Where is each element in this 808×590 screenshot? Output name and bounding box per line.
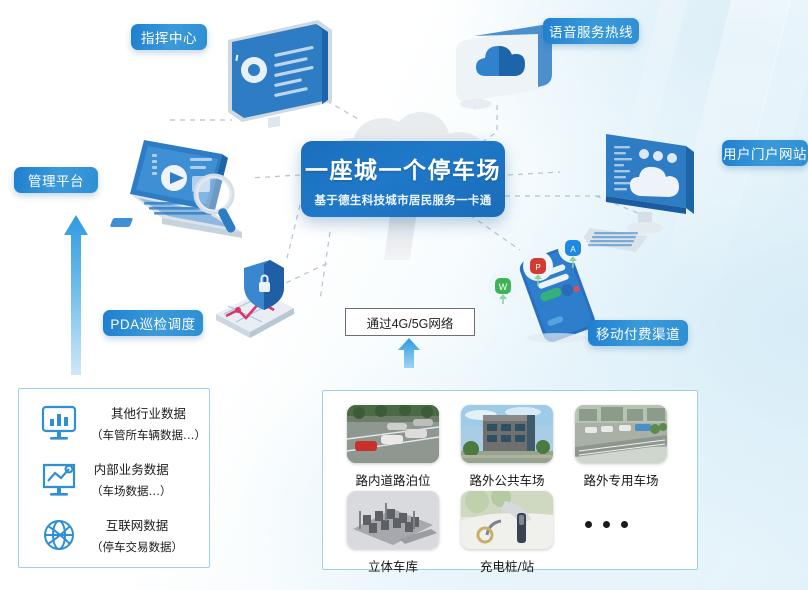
data-source-row: 内部业务数据 （车场数据…） — [37, 459, 172, 499]
more-scenarios-ellipsis — [585, 521, 628, 528]
label-voice-hotline-text: 语音服务热线 — [549, 21, 633, 41]
label-command-center[interactable]: 指挥中心 — [131, 24, 207, 50]
label-pda-dispatch[interactable]: PDA巡检调度 — [103, 310, 203, 336]
scenario-caption: 路外公共车场 — [469, 470, 544, 489]
globe-network-icon — [37, 515, 81, 555]
laptop-video-magnifier-device — [92, 132, 264, 254]
dot-icon — [585, 521, 592, 528]
page-subtitle: 基于德生科技城市居民服务一卡通 — [315, 192, 492, 208]
tablet-map-shield-device — [198, 258, 308, 353]
cloud-stem — [384, 216, 416, 260]
page-title: 一座城一个停车场 — [305, 151, 501, 185]
data-source-row: 其他行业数据 （车管所车辆数据…） — [37, 403, 206, 443]
network-up-arrow-icon — [397, 338, 421, 368]
data-source-detail: （车场数据…） — [91, 483, 172, 499]
scenario-caption: 立体车库 — [368, 556, 418, 575]
scenario-caption: 路外专用车场 — [583, 470, 658, 489]
data-source-text: 内部业务数据 （车场数据…） — [91, 459, 172, 499]
svg-text:W: W — [499, 282, 508, 292]
scenario-cell[interactable]: 路外专用车场 — [569, 405, 673, 489]
scenario-cell[interactable]: 路内道路泊位 — [341, 405, 445, 489]
data-source-detail: （车管所车辆数据…） — [91, 427, 206, 443]
data-source-title: 互联网数据 — [106, 515, 169, 534]
monitor-line-chart-icon — [37, 459, 81, 499]
ev-charging-station-photo — [461, 491, 553, 549]
data-source-detail: （停车交易数据） — [91, 539, 183, 555]
background-streak — [725, 0, 808, 260]
label-management-platform-text: 管理平台 — [28, 170, 84, 190]
scenario-cell[interactable]: 路外公共车场 — [455, 405, 559, 489]
label-user-portal[interactable]: 用户门户网站 — [722, 140, 808, 166]
network-note-box: 通过4G/5G网络 — [345, 308, 475, 336]
hero-title-card: 一座城一个停车场 基于德生科技城市居民服务一卡通 — [301, 141, 505, 217]
data-source-text: 其他行业数据 （车管所车辆数据…） — [91, 403, 206, 443]
label-user-portal-text: 用户门户网站 — [723, 143, 807, 163]
label-pda-dispatch-text: PDA巡检调度 — [110, 313, 195, 333]
data-source-title: 内部业务数据 — [94, 459, 169, 478]
label-command-center-text: 指挥中心 — [141, 27, 197, 47]
gear-monitor-device — [212, 18, 342, 133]
scenario-caption: 充电桩/站 — [480, 556, 534, 575]
label-mobile-payment-text: 移动付费渠道 — [596, 323, 680, 343]
monitor-bar-chart-icon — [37, 403, 81, 443]
data-source-text: 互联网数据 （停车交易数据） — [91, 515, 183, 555]
label-mobile-payment[interactable]: 移动付费渠道 — [588, 320, 688, 346]
scenario-cell[interactable]: 充电桩/站 — [455, 491, 559, 575]
svg-text:A: A — [570, 245, 576, 254]
label-voice-hotline[interactable]: 语音服务热线 — [543, 18, 639, 44]
pay-icon-cluster: W P A — [483, 228, 593, 308]
data-source-title: 其他行业数据 — [111, 403, 186, 422]
label-management-platform[interactable]: 管理平台 — [14, 167, 98, 193]
scenario-cell[interactable]: 立体车库 — [341, 491, 445, 575]
infographic-canvas: 指挥中心 语音服务热线 — [0, 0, 808, 590]
parking-scenarios-panel: 路内道路泊位 — [322, 390, 698, 570]
data-sources-panel: 其他行业数据 （车管所车辆数据…） 内部业务数据 （车场数据…） — [18, 388, 210, 568]
dot-icon — [603, 521, 610, 528]
dot-icon — [621, 521, 628, 528]
network-note-text: 通过4G/5G网络 — [367, 313, 454, 332]
svg-text:P: P — [535, 263, 540, 272]
public-parking-lot-photo — [461, 405, 553, 463]
data-flow-up-arrow-icon — [63, 215, 89, 375]
multilevel-garage-photo — [347, 491, 439, 549]
data-source-row: 互联网数据 （停车交易数据） — [37, 515, 183, 555]
scenario-caption: 路内道路泊位 — [355, 470, 430, 489]
on-street-parking-photo — [347, 405, 439, 463]
dedicated-parking-lot-photo — [575, 405, 667, 463]
